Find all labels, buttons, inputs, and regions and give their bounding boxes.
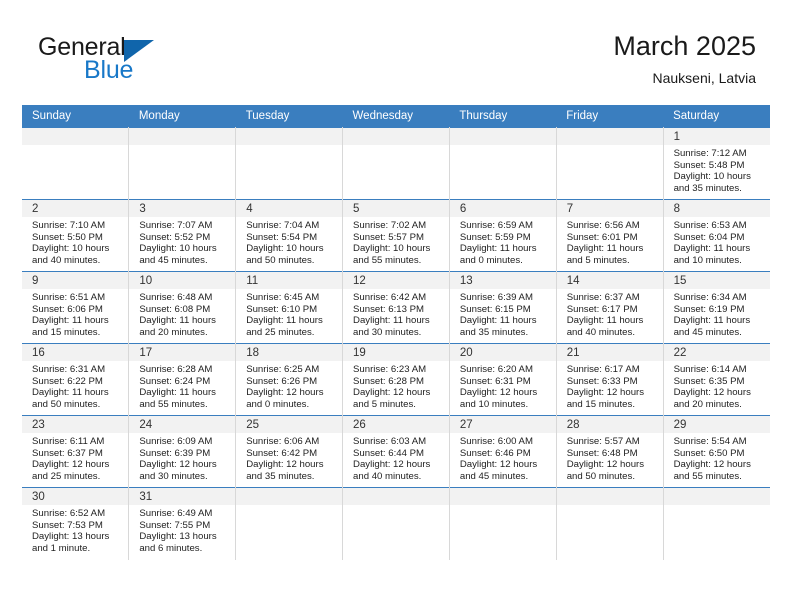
sunrise-text: Sunrise: 6:03 AM: [353, 436, 443, 448]
day-sun-info: Sunrise: 6:20 AMSunset: 6:31 PMDaylight:…: [450, 361, 556, 410]
day-number: 3: [129, 200, 235, 217]
weekday-header-row: Sunday Monday Tuesday Wednesday Thursday…: [22, 105, 770, 128]
day-number: 30: [22, 488, 128, 505]
calendar-day-cell[interactable]: 8Sunrise: 6:53 AMSunset: 6:04 PMDaylight…: [663, 200, 770, 272]
sunrise-text: Sunrise: 7:10 AM: [32, 220, 122, 232]
sunset-text: Sunset: 6:10 PM: [246, 304, 336, 316]
calendar-day-cell[interactable]: 9Sunrise: 6:51 AMSunset: 6:06 PMDaylight…: [22, 272, 129, 344]
calendar-week-row: 30Sunrise: 6:52 AMSunset: 7:53 PMDayligh…: [22, 488, 770, 560]
daylight-text-line2: and 55 minutes.: [353, 255, 443, 267]
calendar-day-cell[interactable]: 7Sunrise: 6:56 AMSunset: 6:01 PMDaylight…: [556, 200, 663, 272]
daylight-text-line2: and 45 minutes.: [674, 327, 764, 339]
sunset-text: Sunset: 7:53 PM: [32, 520, 122, 532]
daylight-text-line1: Daylight: 12 hours: [32, 459, 122, 471]
day-number-placeholder: [129, 128, 235, 145]
calendar-week-row: 9Sunrise: 6:51 AMSunset: 6:06 PMDaylight…: [22, 272, 770, 344]
daylight-text-line1: Daylight: 11 hours: [32, 387, 122, 399]
sunset-text: Sunset: 5:50 PM: [32, 232, 122, 244]
calendar-cell-empty: [236, 128, 343, 200]
calendar-day-cell[interactable]: 14Sunrise: 6:37 AMSunset: 6:17 PMDayligh…: [556, 272, 663, 344]
daylight-text-line1: Daylight: 11 hours: [674, 315, 764, 327]
sunset-text: Sunset: 5:59 PM: [460, 232, 550, 244]
day-number-placeholder: [664, 488, 770, 505]
day-number: 31: [129, 488, 235, 505]
weekday-header-friday: Friday: [556, 105, 663, 128]
sunset-text: Sunset: 6:50 PM: [674, 448, 764, 460]
sunrise-text: Sunrise: 6:11 AM: [32, 436, 122, 448]
calendar-day-cell[interactable]: 3Sunrise: 7:07 AMSunset: 5:52 PMDaylight…: [129, 200, 236, 272]
calendar-cell-empty: [663, 488, 770, 560]
day-sun-info: Sunrise: 6:37 AMSunset: 6:17 PMDaylight:…: [557, 289, 663, 338]
day-sun-info: Sunrise: 6:31 AMSunset: 6:22 PMDaylight:…: [22, 361, 128, 410]
sunset-text: Sunset: 6:26 PM: [246, 376, 336, 388]
calendar-body: 1Sunrise: 7:12 AMSunset: 5:48 PMDaylight…: [22, 128, 770, 560]
calendar-day-cell[interactable]: 20Sunrise: 6:20 AMSunset: 6:31 PMDayligh…: [449, 344, 556, 416]
weekday-header-sunday: Sunday: [22, 105, 129, 128]
day-sun-info: Sunrise: 6:49 AMSunset: 7:55 PMDaylight:…: [129, 505, 235, 554]
sunset-text: Sunset: 5:54 PM: [246, 232, 336, 244]
daylight-text-line2: and 5 minutes.: [567, 255, 657, 267]
sunset-text: Sunset: 6:28 PM: [353, 376, 443, 388]
day-number-placeholder: [343, 488, 449, 505]
day-sun-info: Sunrise: 6:51 AMSunset: 6:06 PMDaylight:…: [22, 289, 128, 338]
day-number: 20: [450, 344, 556, 361]
day-sun-info: Sunrise: 6:06 AMSunset: 6:42 PMDaylight:…: [236, 433, 342, 482]
daylight-text-line2: and 35 minutes.: [460, 327, 550, 339]
sunset-text: Sunset: 6:37 PM: [32, 448, 122, 460]
day-sun-info: Sunrise: 6:48 AMSunset: 6:08 PMDaylight:…: [129, 289, 235, 338]
daylight-text-line1: Daylight: 11 hours: [460, 315, 550, 327]
daylight-text-line2: and 45 minutes.: [139, 255, 229, 267]
calendar-grid: Sunday Monday Tuesday Wednesday Thursday…: [22, 105, 770, 560]
day-number: 24: [129, 416, 235, 433]
day-sun-info: Sunrise: 6:03 AMSunset: 6:44 PMDaylight:…: [343, 433, 449, 482]
daylight-text-line1: Daylight: 12 hours: [674, 387, 764, 399]
title-block: March 2025 Naukseni, Latvia: [613, 30, 756, 88]
day-sun-info: Sunrise: 6:28 AMSunset: 6:24 PMDaylight:…: [129, 361, 235, 410]
calendar-day-cell[interactable]: 25Sunrise: 6:06 AMSunset: 6:42 PMDayligh…: [236, 416, 343, 488]
daylight-text-line1: Daylight: 10 hours: [353, 243, 443, 255]
calendar-cell-empty: [22, 128, 129, 200]
daylight-text-line1: Daylight: 11 hours: [32, 315, 122, 327]
calendar-day-cell[interactable]: 30Sunrise: 6:52 AMSunset: 7:53 PMDayligh…: [22, 488, 129, 560]
day-number: 9: [22, 272, 128, 289]
daylight-text-line2: and 20 minutes.: [139, 327, 229, 339]
calendar-cell-empty: [236, 488, 343, 560]
sunrise-text: Sunrise: 6:53 AM: [674, 220, 764, 232]
daylight-text-line2: and 15 minutes.: [567, 399, 657, 411]
calendar-day-cell[interactable]: 21Sunrise: 6:17 AMSunset: 6:33 PMDayligh…: [556, 344, 663, 416]
sunrise-text: Sunrise: 6:51 AM: [32, 292, 122, 304]
day-sun-info: Sunrise: 6:52 AMSunset: 7:53 PMDaylight:…: [22, 505, 128, 554]
daylight-text-line2: and 40 minutes.: [353, 471, 443, 483]
daylight-text-line2: and 5 minutes.: [353, 399, 443, 411]
sunset-text: Sunset: 6:22 PM: [32, 376, 122, 388]
day-number: 19: [343, 344, 449, 361]
sunrise-text: Sunrise: 6:42 AM: [353, 292, 443, 304]
daylight-text-line1: Daylight: 12 hours: [567, 387, 657, 399]
daylight-text-line2: and 55 minutes.: [674, 471, 764, 483]
day-number: 22: [664, 344, 770, 361]
daylight-text-line2: and 20 minutes.: [674, 399, 764, 411]
sunset-text: Sunset: 7:55 PM: [139, 520, 229, 532]
weekday-header-monday: Monday: [129, 105, 236, 128]
daylight-text-line2: and 10 minutes.: [674, 255, 764, 267]
day-sun-info: Sunrise: 6:59 AMSunset: 5:59 PMDaylight:…: [450, 217, 556, 266]
sunrise-text: Sunrise: 6:09 AM: [139, 436, 229, 448]
daylight-text-line2: and 45 minutes.: [460, 471, 550, 483]
sunrise-text: Sunrise: 6:59 AM: [460, 220, 550, 232]
daylight-text-line2: and 10 minutes.: [460, 399, 550, 411]
calendar-day-cell[interactable]: 24Sunrise: 6:09 AMSunset: 6:39 PMDayligh…: [129, 416, 236, 488]
sunset-text: Sunset: 5:57 PM: [353, 232, 443, 244]
daylight-text-line1: Daylight: 12 hours: [460, 459, 550, 471]
sunrise-text: Sunrise: 7:12 AM: [674, 148, 764, 160]
page-subtitle: Naukseni, Latvia: [613, 68, 756, 88]
calendar-day-cell[interactable]: 13Sunrise: 6:39 AMSunset: 6:15 PMDayligh…: [449, 272, 556, 344]
sunrise-text: Sunrise: 6:34 AM: [674, 292, 764, 304]
sunrise-text: Sunrise: 6:06 AM: [246, 436, 336, 448]
calendar-day-cell[interactable]: 26Sunrise: 6:03 AMSunset: 6:44 PMDayligh…: [343, 416, 450, 488]
calendar-cell-empty: [343, 128, 450, 200]
day-number-placeholder: [450, 128, 556, 145]
sunrise-text: Sunrise: 6:37 AM: [567, 292, 657, 304]
calendar-cell-empty: [556, 488, 663, 560]
sunset-text: Sunset: 6:15 PM: [460, 304, 550, 316]
daylight-text-line2: and 0 minutes.: [246, 399, 336, 411]
daylight-text-line2: and 35 minutes.: [246, 471, 336, 483]
daylight-text-line1: Daylight: 13 hours: [32, 531, 122, 543]
calendar-cell-empty: [449, 128, 556, 200]
day-number: 5: [343, 200, 449, 217]
day-number: 7: [557, 200, 663, 217]
calendar-day-cell[interactable]: 10Sunrise: 6:48 AMSunset: 6:08 PMDayligh…: [129, 272, 236, 344]
calendar-day-cell[interactable]: 2Sunrise: 7:10 AMSunset: 5:50 PMDaylight…: [22, 200, 129, 272]
sunset-text: Sunset: 6:01 PM: [567, 232, 657, 244]
calendar-week-row: 16Sunrise: 6:31 AMSunset: 6:22 PMDayligh…: [22, 344, 770, 416]
calendar-cell-empty: [129, 128, 236, 200]
day-sun-info: Sunrise: 6:34 AMSunset: 6:19 PMDaylight:…: [664, 289, 770, 338]
calendar-week-row: 23Sunrise: 6:11 AMSunset: 6:37 PMDayligh…: [22, 416, 770, 488]
day-number-placeholder: [343, 128, 449, 145]
day-sun-info: Sunrise: 6:53 AMSunset: 6:04 PMDaylight:…: [664, 217, 770, 266]
day-number: 14: [557, 272, 663, 289]
daylight-text-line1: Daylight: 11 hours: [353, 315, 443, 327]
daylight-text-line2: and 6 minutes.: [139, 543, 229, 555]
day-number: 21: [557, 344, 663, 361]
day-sun-info: Sunrise: 6:23 AMSunset: 6:28 PMDaylight:…: [343, 361, 449, 410]
day-number: 18: [236, 344, 342, 361]
daylight-text-line2: and 40 minutes.: [567, 327, 657, 339]
day-number-placeholder: [236, 488, 342, 505]
calendar-day-cell[interactable]: 27Sunrise: 6:00 AMSunset: 6:46 PMDayligh…: [449, 416, 556, 488]
day-number: 28: [557, 416, 663, 433]
daylight-text-line1: Daylight: 10 hours: [139, 243, 229, 255]
sunset-text: Sunset: 6:35 PM: [674, 376, 764, 388]
daylight-text-line2: and 35 minutes.: [674, 183, 764, 195]
daylight-text-line2: and 30 minutes.: [353, 327, 443, 339]
sunset-text: Sunset: 6:17 PM: [567, 304, 657, 316]
sunrise-text: Sunrise: 6:31 AM: [32, 364, 122, 376]
day-number-placeholder: [557, 488, 663, 505]
calendar-day-cell[interactable]: 11Sunrise: 6:45 AMSunset: 6:10 PMDayligh…: [236, 272, 343, 344]
daylight-text-line1: Daylight: 10 hours: [674, 171, 764, 183]
sunrise-text: Sunrise: 7:07 AM: [139, 220, 229, 232]
daylight-text-line1: Daylight: 10 hours: [246, 243, 336, 255]
sunset-text: Sunset: 5:48 PM: [674, 160, 764, 172]
calendar-day-cell[interactable]: 17Sunrise: 6:28 AMSunset: 6:24 PMDayligh…: [129, 344, 236, 416]
day-sun-info: Sunrise: 6:42 AMSunset: 6:13 PMDaylight:…: [343, 289, 449, 338]
sunset-text: Sunset: 6:04 PM: [674, 232, 764, 244]
daylight-text-line1: Daylight: 11 hours: [567, 315, 657, 327]
calendar-day-cell[interactable]: 15Sunrise: 6:34 AMSunset: 6:19 PMDayligh…: [663, 272, 770, 344]
sunrise-text: Sunrise: 5:54 AM: [674, 436, 764, 448]
sunset-text: Sunset: 6:48 PM: [567, 448, 657, 460]
day-number: 10: [129, 272, 235, 289]
day-number: 11: [236, 272, 342, 289]
day-sun-info: Sunrise: 6:00 AMSunset: 6:46 PMDaylight:…: [450, 433, 556, 482]
day-sun-info: Sunrise: 6:45 AMSunset: 6:10 PMDaylight:…: [236, 289, 342, 338]
day-sun-info: Sunrise: 6:56 AMSunset: 6:01 PMDaylight:…: [557, 217, 663, 266]
day-number: 29: [664, 416, 770, 433]
day-number-placeholder: [450, 488, 556, 505]
weekday-header-thursday: Thursday: [449, 105, 556, 128]
daylight-text-line1: Daylight: 12 hours: [353, 459, 443, 471]
calendar-day-cell[interactable]: 4Sunrise: 7:04 AMSunset: 5:54 PMDaylight…: [236, 200, 343, 272]
day-number: 27: [450, 416, 556, 433]
daylight-text-line2: and 25 minutes.: [32, 471, 122, 483]
day-sun-info: Sunrise: 7:04 AMSunset: 5:54 PMDaylight:…: [236, 217, 342, 266]
day-sun-info: Sunrise: 6:11 AMSunset: 6:37 PMDaylight:…: [22, 433, 128, 482]
calendar-cell-empty: [449, 488, 556, 560]
daylight-text-line1: Daylight: 11 hours: [246, 315, 336, 327]
day-number-placeholder: [22, 128, 128, 145]
calendar-day-cell[interactable]: 12Sunrise: 6:42 AMSunset: 6:13 PMDayligh…: [343, 272, 450, 344]
daylight-text-line1: Daylight: 12 hours: [567, 459, 657, 471]
logo-text-blue: Blue: [84, 56, 133, 84]
sunrise-text: Sunrise: 6:49 AM: [139, 508, 229, 520]
daylight-text-line2: and 15 minutes.: [32, 327, 122, 339]
sunset-text: Sunset: 6:42 PM: [246, 448, 336, 460]
daylight-text-line1: Daylight: 11 hours: [460, 243, 550, 255]
calendar-day-cell[interactable]: 28Sunrise: 5:57 AMSunset: 6:48 PMDayligh…: [556, 416, 663, 488]
sunrise-text: Sunrise: 6:39 AM: [460, 292, 550, 304]
sunrise-text: Sunrise: 6:28 AM: [139, 364, 229, 376]
day-sun-info: Sunrise: 6:14 AMSunset: 6:35 PMDaylight:…: [664, 361, 770, 410]
sunset-text: Sunset: 6:39 PM: [139, 448, 229, 460]
calendar-day-cell[interactable]: 16Sunrise: 6:31 AMSunset: 6:22 PMDayligh…: [22, 344, 129, 416]
calendar-day-cell[interactable]: 18Sunrise: 6:25 AMSunset: 6:26 PMDayligh…: [236, 344, 343, 416]
day-sun-info: Sunrise: 6:17 AMSunset: 6:33 PMDaylight:…: [557, 361, 663, 410]
day-number: 17: [129, 344, 235, 361]
sunrise-text: Sunrise: 6:14 AM: [674, 364, 764, 376]
calendar-day-cell[interactable]: 31Sunrise: 6:49 AMSunset: 7:55 PMDayligh…: [129, 488, 236, 560]
day-sun-info: Sunrise: 5:57 AMSunset: 6:48 PMDaylight:…: [557, 433, 663, 482]
calendar-page: General Blue March 2025 Naukseni, Latvia…: [0, 0, 792, 612]
sunset-text: Sunset: 6:44 PM: [353, 448, 443, 460]
sunrise-text: Sunrise: 7:02 AM: [353, 220, 443, 232]
day-number: 15: [664, 272, 770, 289]
day-number-placeholder: [236, 128, 342, 145]
day-number: 8: [664, 200, 770, 217]
day-sun-info: Sunrise: 6:25 AMSunset: 6:26 PMDaylight:…: [236, 361, 342, 410]
day-sun-info: Sunrise: 5:54 AMSunset: 6:50 PMDaylight:…: [664, 433, 770, 482]
generalblue-logo: General Blue: [38, 33, 218, 91]
day-number: 13: [450, 272, 556, 289]
calendar-day-cell[interactable]: 6Sunrise: 6:59 AMSunset: 5:59 PMDaylight…: [449, 200, 556, 272]
sunset-text: Sunset: 5:52 PM: [139, 232, 229, 244]
daylight-text-line2: and 50 minutes.: [567, 471, 657, 483]
page-header: General Blue March 2025 Naukseni, Latvia: [0, 0, 792, 100]
weekday-header-tuesday: Tuesday: [236, 105, 343, 128]
day-number: 4: [236, 200, 342, 217]
daylight-text-line2: and 30 minutes.: [139, 471, 229, 483]
day-number: 26: [343, 416, 449, 433]
daylight-text-line2: and 0 minutes.: [460, 255, 550, 267]
day-sun-info: Sunrise: 7:10 AMSunset: 5:50 PMDaylight:…: [22, 217, 128, 266]
calendar-day-cell[interactable]: 5Sunrise: 7:02 AMSunset: 5:57 PMDaylight…: [343, 200, 450, 272]
calendar-cell-empty: [343, 488, 450, 560]
daylight-text-line1: Daylight: 12 hours: [674, 459, 764, 471]
daylight-text-line1: Daylight: 12 hours: [460, 387, 550, 399]
day-sun-info: Sunrise: 6:39 AMSunset: 6:15 PMDaylight:…: [450, 289, 556, 338]
day-number: 1: [664, 128, 770, 145]
day-number: 12: [343, 272, 449, 289]
calendar-day-cell[interactable]: 23Sunrise: 6:11 AMSunset: 6:37 PMDayligh…: [22, 416, 129, 488]
daylight-text-line1: Daylight: 12 hours: [139, 459, 229, 471]
sunrise-text: Sunrise: 6:25 AM: [246, 364, 336, 376]
sunset-text: Sunset: 6:24 PM: [139, 376, 229, 388]
calendar-day-cell[interactable]: 1Sunrise: 7:12 AMSunset: 5:48 PMDaylight…: [663, 128, 770, 200]
daylight-text-line2: and 25 minutes.: [246, 327, 336, 339]
sunrise-text: Sunrise: 6:00 AM: [460, 436, 550, 448]
day-number: 6: [450, 200, 556, 217]
day-number: 23: [22, 416, 128, 433]
calendar-day-cell[interactable]: 22Sunrise: 6:14 AMSunset: 6:35 PMDayligh…: [663, 344, 770, 416]
sunrise-text: Sunrise: 6:45 AM: [246, 292, 336, 304]
sunset-text: Sunset: 6:31 PM: [460, 376, 550, 388]
calendar-day-cell[interactable]: 29Sunrise: 5:54 AMSunset: 6:50 PMDayligh…: [663, 416, 770, 488]
day-number: 16: [22, 344, 128, 361]
calendar-week-row: 1Sunrise: 7:12 AMSunset: 5:48 PMDaylight…: [22, 128, 770, 200]
sunset-text: Sunset: 6:33 PM: [567, 376, 657, 388]
daylight-text-line2: and 1 minute.: [32, 543, 122, 555]
daylight-text-line1: Daylight: 12 hours: [246, 387, 336, 399]
day-number-placeholder: [557, 128, 663, 145]
daylight-text-line1: Daylight: 12 hours: [246, 459, 336, 471]
day-sun-info: Sunrise: 7:02 AMSunset: 5:57 PMDaylight:…: [343, 217, 449, 266]
sunrise-text: Sunrise: 6:20 AM: [460, 364, 550, 376]
daylight-text-line1: Daylight: 11 hours: [674, 243, 764, 255]
sunset-text: Sunset: 6:08 PM: [139, 304, 229, 316]
sunrise-text: Sunrise: 6:56 AM: [567, 220, 657, 232]
sunrise-text: Sunrise: 6:52 AM: [32, 508, 122, 520]
day-number: 2: [22, 200, 128, 217]
weekday-header-wednesday: Wednesday: [343, 105, 450, 128]
sunset-text: Sunset: 6:19 PM: [674, 304, 764, 316]
sunrise-text: Sunrise: 6:17 AM: [567, 364, 657, 376]
calendar-cell-empty: [556, 128, 663, 200]
weekday-header-saturday: Saturday: [663, 105, 770, 128]
daylight-text-line1: Daylight: 11 hours: [139, 315, 229, 327]
daylight-text-line1: Daylight: 11 hours: [567, 243, 657, 255]
daylight-text-line1: Daylight: 13 hours: [139, 531, 229, 543]
daylight-text-line1: Daylight: 12 hours: [353, 387, 443, 399]
calendar-day-cell[interactable]: 19Sunrise: 6:23 AMSunset: 6:28 PMDayligh…: [343, 344, 450, 416]
sunset-text: Sunset: 6:06 PM: [32, 304, 122, 316]
daylight-text-line1: Daylight: 10 hours: [32, 243, 122, 255]
daylight-text-line2: and 50 minutes.: [32, 399, 122, 411]
sunrise-text: Sunrise: 5:57 AM: [567, 436, 657, 448]
sunrise-text: Sunrise: 7:04 AM: [246, 220, 336, 232]
calendar-week-row: 2Sunrise: 7:10 AMSunset: 5:50 PMDaylight…: [22, 200, 770, 272]
day-number: 25: [236, 416, 342, 433]
sunrise-text: Sunrise: 6:48 AM: [139, 292, 229, 304]
sunrise-text: Sunrise: 6:23 AM: [353, 364, 443, 376]
day-sun-info: Sunrise: 7:07 AMSunset: 5:52 PMDaylight:…: [129, 217, 235, 266]
day-sun-info: Sunrise: 7:12 AMSunset: 5:48 PMDaylight:…: [664, 145, 770, 194]
day-sun-info: Sunrise: 6:09 AMSunset: 6:39 PMDaylight:…: [129, 433, 235, 482]
sunset-text: Sunset: 6:13 PM: [353, 304, 443, 316]
page-title: March 2025: [613, 30, 756, 62]
sunset-text: Sunset: 6:46 PM: [460, 448, 550, 460]
daylight-text-line2: and 50 minutes.: [246, 255, 336, 267]
daylight-text-line1: Daylight: 11 hours: [139, 387, 229, 399]
daylight-text-line2: and 40 minutes.: [32, 255, 122, 267]
daylight-text-line2: and 55 minutes.: [139, 399, 229, 411]
